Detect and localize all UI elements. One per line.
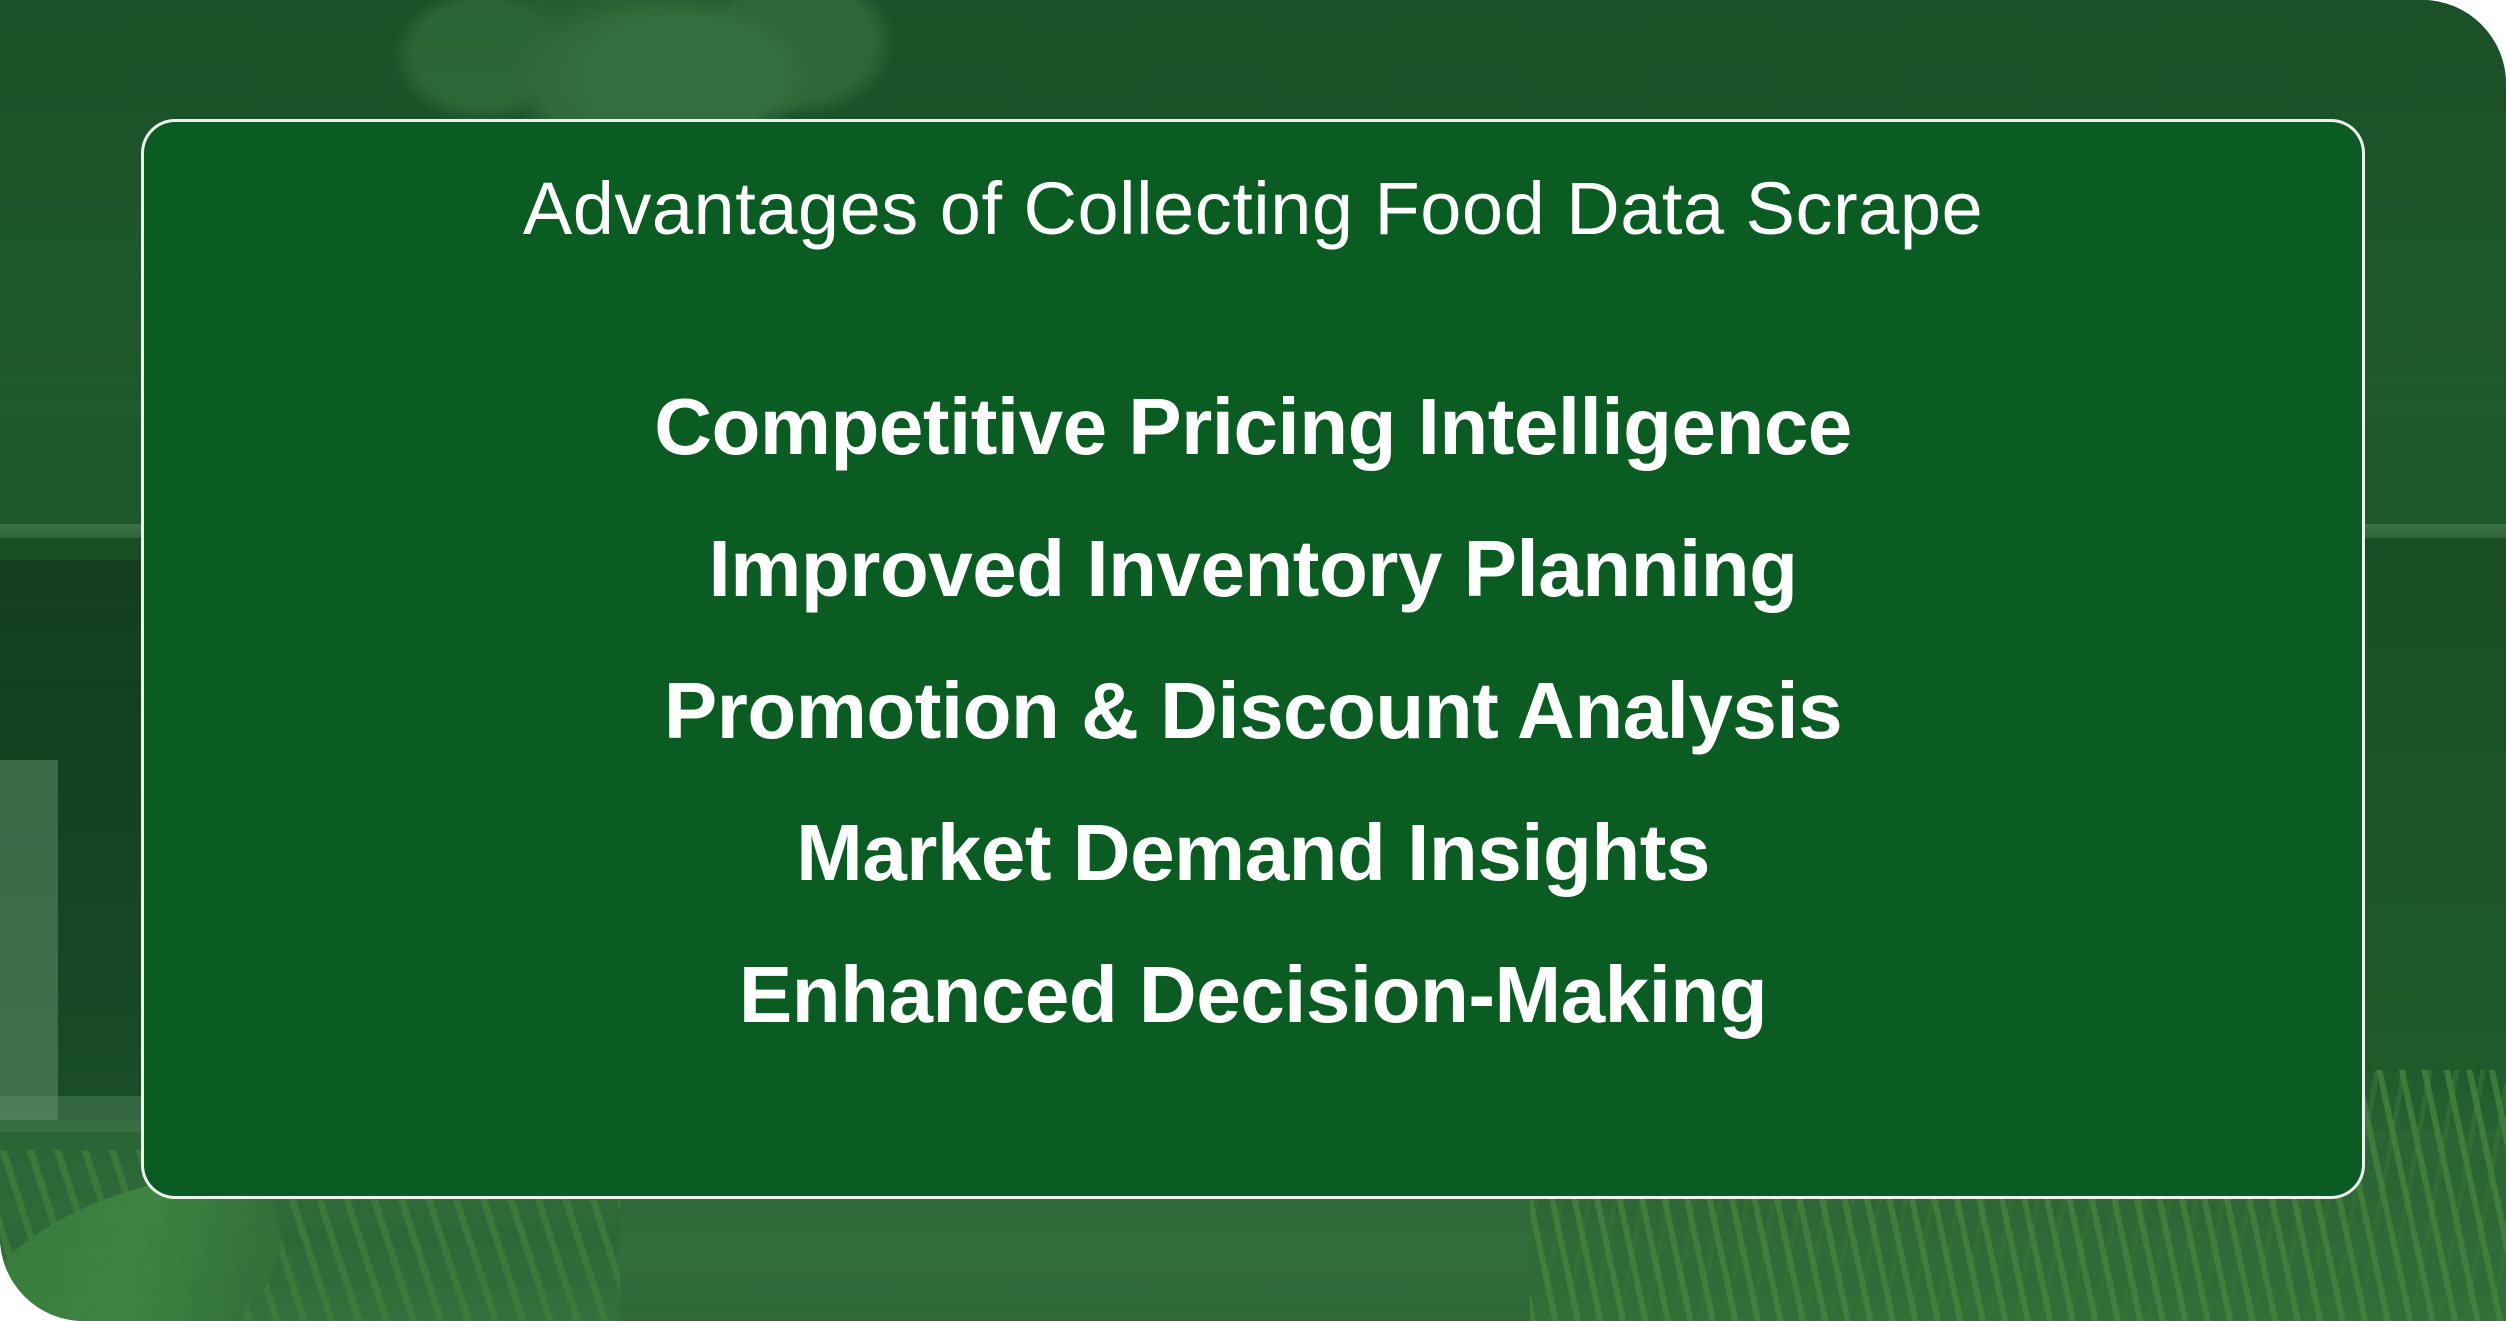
list-item: Market Demand Insights [796,813,1710,893]
list-item: Improved Inventory Planning [709,529,1798,609]
list-item: Promotion & Discount Analysis [664,671,1842,751]
list-item: Competitive Pricing Intelligence [654,387,1852,467]
page-title: Advantages of Collecting Food Data Scrap… [523,168,1983,249]
background-photo-frame: If we find a lower price, we beat it. *T… [0,0,2506,1321]
advantages-card: Advantages of Collecting Food Data Scrap… [141,119,2365,1199]
list-item: Enhanced Decision-Making [739,955,1767,1035]
benefits-list: Competitive Pricing Intelligence Improve… [144,387,2362,1035]
